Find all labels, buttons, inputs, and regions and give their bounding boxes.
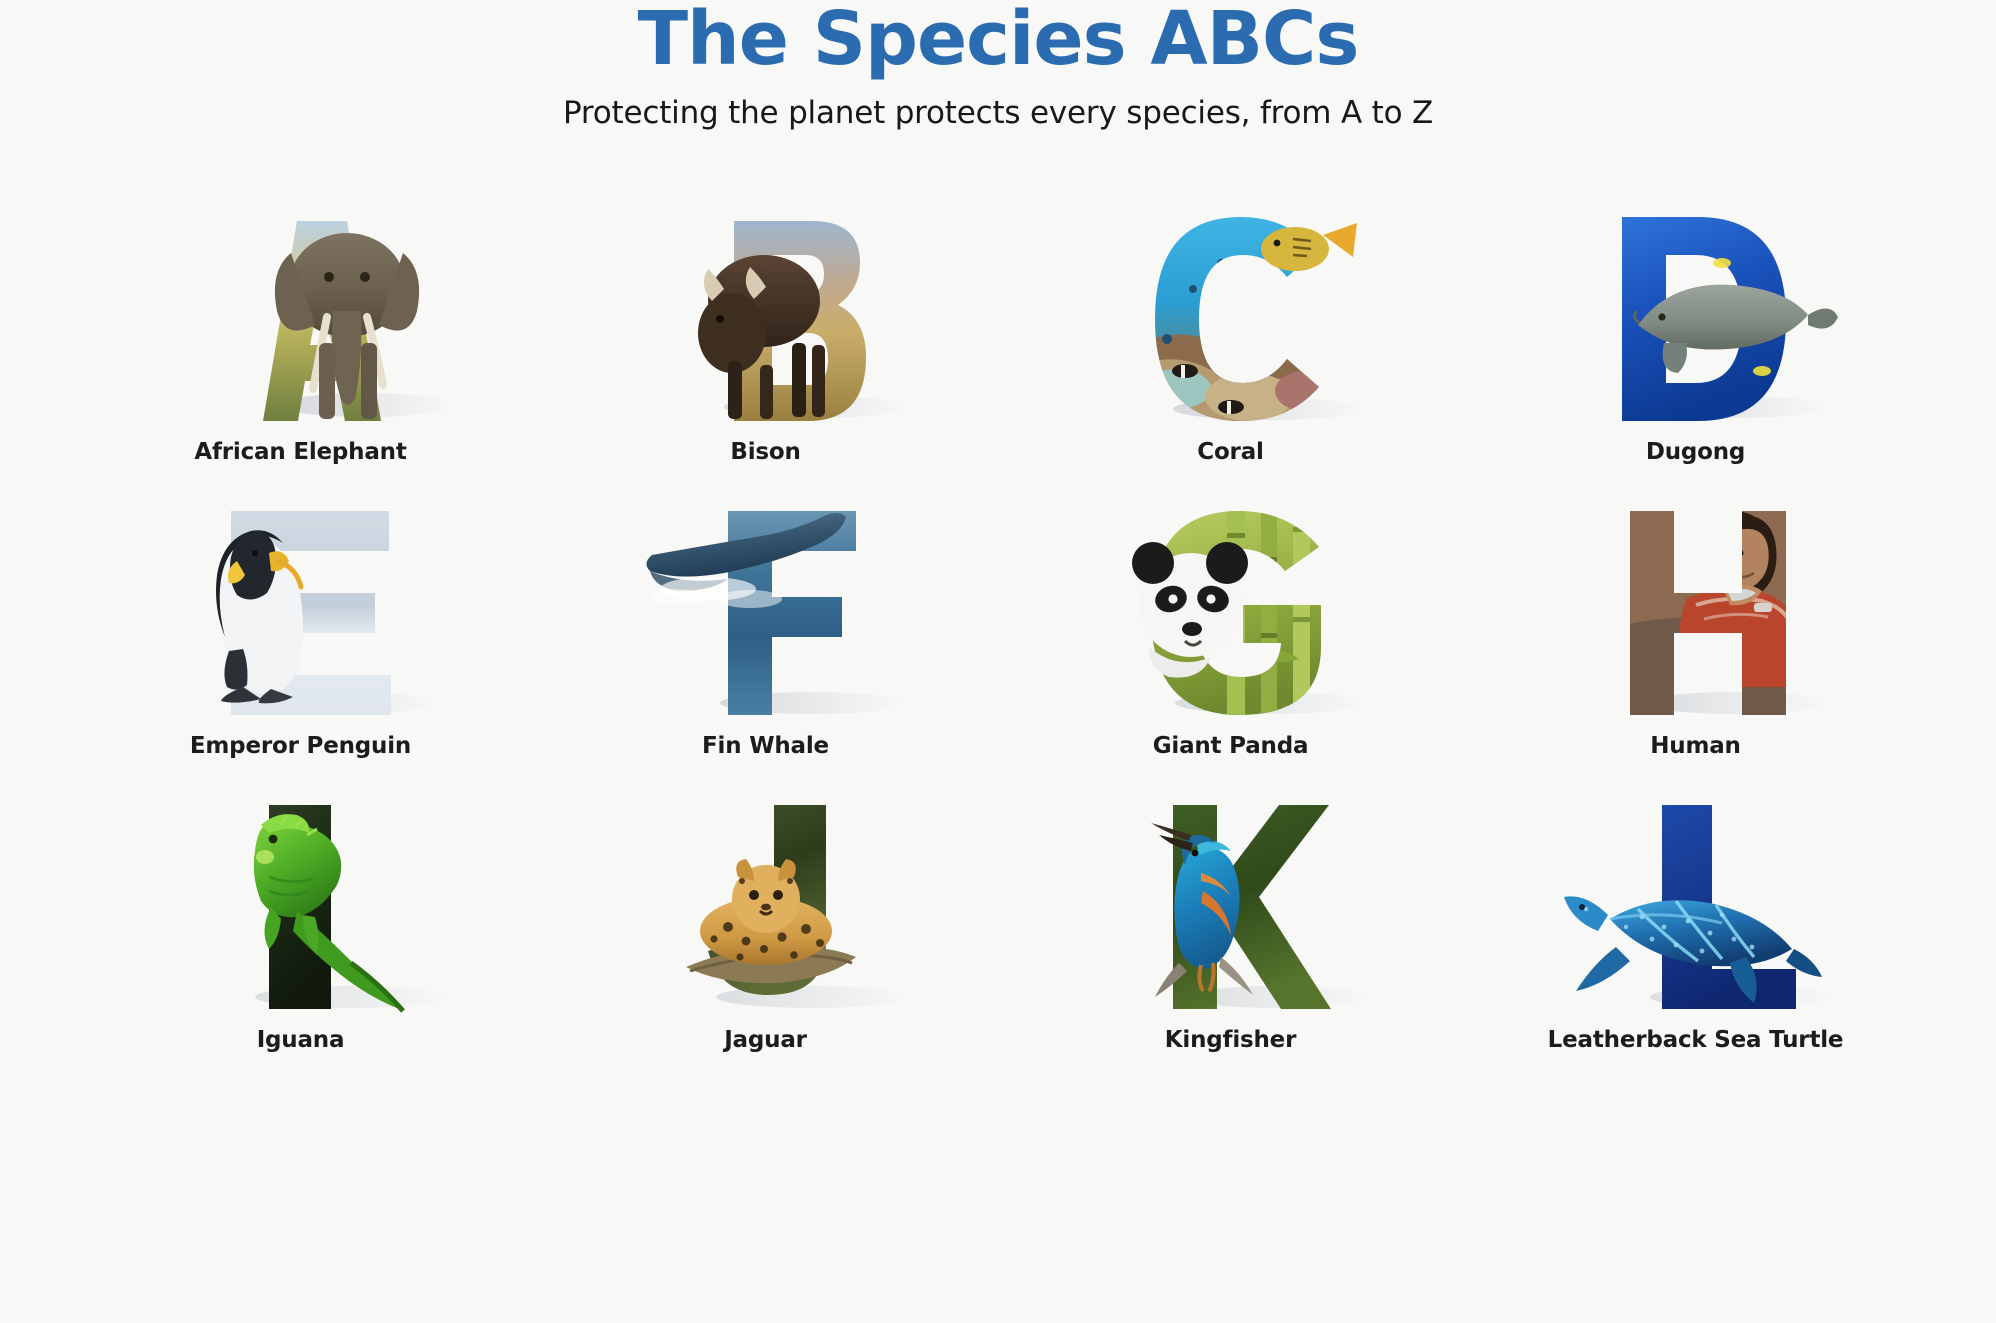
- species-label: Leatherback Sea Turtle: [1548, 1027, 1844, 1053]
- species-label: African Elephant: [194, 439, 406, 465]
- letter-tile-k: [1081, 781, 1381, 1013]
- letter-tile-e: [151, 487, 451, 719]
- letter-tile-f: [616, 487, 916, 719]
- species-label: Giant Panda: [1153, 733, 1309, 759]
- human-illustration: [1616, 507, 1796, 723]
- page-header: The Species ABCs Protecting the planet p…: [0, 0, 1996, 131]
- letter-tile-c: [1081, 193, 1381, 425]
- species-label: Coral: [1197, 439, 1263, 465]
- page-title: The Species ABCs: [0, 2, 1996, 77]
- species-card-dugong[interactable]: Dugong: [1463, 171, 1928, 465]
- emperor-penguin-illustration: [216, 531, 303, 704]
- letter-tile-b: [616, 193, 916, 425]
- letter-tile-j: [616, 781, 916, 1013]
- species-card-giant-panda[interactable]: Giant Panda: [998, 465, 1463, 759]
- species-card-emperor-penguin[interactable]: Emperor Penguin: [68, 465, 533, 759]
- species-card-coral[interactable]: Coral: [998, 171, 1463, 465]
- species-card-leatherback-sea-turtle[interactable]: Leatherback Sea Turtle: [1463, 759, 1928, 1053]
- letter-tile-h: [1546, 487, 1846, 719]
- species-card-african-elephant[interactable]: African Elephant: [68, 171, 533, 465]
- bison-illustration: [698, 255, 825, 419]
- jaguar-illustration: [686, 859, 856, 983]
- species-label: Iguana: [257, 1027, 345, 1053]
- species-label: Bison: [730, 439, 800, 465]
- species-label: Dugong: [1646, 439, 1745, 465]
- species-card-fin-whale[interactable]: Fin Whale: [533, 465, 998, 759]
- species-label: Jaguar: [724, 1027, 807, 1053]
- letter-tile-a: [151, 193, 451, 425]
- species-card-bison[interactable]: Bison: [533, 171, 998, 465]
- species-card-kingfisher[interactable]: Kingfisher: [998, 759, 1463, 1053]
- species-grid: African Elephant: [68, 171, 1928, 1053]
- species-label: Kingfisher: [1165, 1027, 1296, 1053]
- letter-tile-i: [151, 781, 451, 1013]
- species-label: Human: [1650, 733, 1740, 759]
- page-subtitle: Protecting the planet protects every spe…: [0, 95, 1996, 131]
- species-card-human[interactable]: Human: [1463, 465, 1928, 759]
- species-label: Fin Whale: [702, 733, 829, 759]
- letter-tile-d: [1546, 193, 1846, 425]
- species-card-jaguar[interactable]: Jaguar: [533, 759, 998, 1053]
- letter-tile-g: [1081, 487, 1381, 719]
- species-label: Emperor Penguin: [190, 733, 411, 759]
- species-card-iguana[interactable]: Iguana: [68, 759, 533, 1053]
- letter-tile-l: [1546, 781, 1846, 1013]
